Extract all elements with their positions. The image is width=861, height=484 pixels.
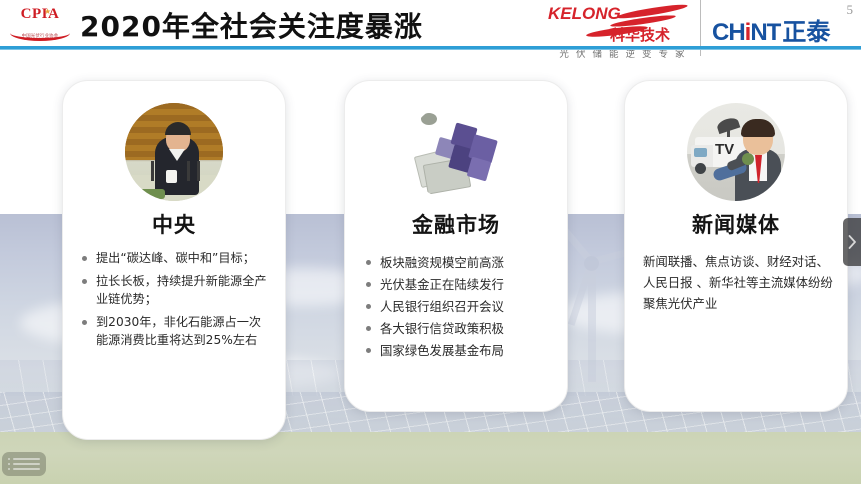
list-item: 光伏基金正在陆续发行 [363, 275, 553, 294]
card-bullet-list: 板块融资规模空前高涨 光伏基金正在陆续发行 人民银行组织召开会议 各大银行信贷政… [363, 253, 553, 363]
menu-line-row [8, 458, 40, 460]
page-number: 5 [847, 2, 854, 18]
chevron-right-icon [848, 235, 857, 249]
next-slide-button[interactable] [843, 218, 861, 266]
chint-logo-text-1: CH [712, 19, 745, 46]
card-bullet-list: 提出“碳达峰、碳中和”目标； 拉长长板，持续提升新能源全产业链优势； 到2030… [79, 249, 271, 354]
leader-meeting-photo [125, 103, 223, 201]
list-item: 拉长长板，持续提升新能源全产业链优势； [79, 272, 271, 309]
card-title: 新闻媒体 [625, 209, 847, 239]
kelong-logo-text: KELONG [548, 4, 621, 24]
slide-menu-button[interactable] [2, 452, 46, 476]
list-item: 国家绿色发展基金布局 [363, 341, 553, 360]
cpia-logo-text: CPIA [8, 6, 72, 23]
card-title: 金融市场 [345, 209, 567, 239]
card-financial-market[interactable]: 金融市场 板块融资规模空前高涨 光伏基金正在陆续发行 人民银行组织召开会议 各大… [344, 80, 568, 412]
cpia-logo-icon: CPIA ★ 中国光伏行业协会 [8, 4, 72, 42]
chint-logo-text-2: NT [750, 19, 780, 46]
card-news-media[interactable]: TV 新闻媒体 新闻联播、焦点访谈、财经对话、人民日报 、新华社等主流媒体纷纷聚… [624, 80, 848, 412]
chint-logo-text-cn: 正泰 [782, 18, 830, 46]
list-item: 人民银行组织召开会议 [363, 297, 553, 316]
kelong-logo-text-cn: 科华技术 [610, 24, 670, 45]
list-item: 到2030年，非化石能源占一次能源消费比重将达到25%左右 [79, 313, 271, 350]
card-title: 中央 [63, 209, 285, 239]
card-paragraph: 新闻联播、焦点访谈、财经对话、人民日报 、新华社等主流媒体纷纷聚焦光伏产业 [643, 251, 835, 314]
menu-line-row [8, 463, 40, 465]
puzzle-money-photo [407, 103, 505, 201]
list-item: 板块融资规模空前高涨 [363, 253, 553, 272]
slide: CPIA ★ 中国光伏行业协会 2020年全社会关注度暴涨 KELONG 科华技… [0, 0, 861, 484]
page-title: 2020年全社会关注度暴涨 [80, 5, 423, 45]
menu-line-row [8, 468, 40, 470]
reporter-tv-photo: TV [687, 103, 785, 201]
slide-header: CPIA ★ 中国光伏行业协会 2020年全社会关注度暴涨 KELONG 科华技… [0, 0, 861, 56]
star-icon: ★ [44, 7, 51, 16]
chint-logo-icon: CHiNT正泰 [712, 12, 830, 42]
card-central-government[interactable]: 中央 提出“碳达峰、碳中和”目标； 拉长长板，持续提升新能源全产业链优势； 到2… [62, 80, 286, 440]
list-item: 提出“碳达峰、碳中和”目标； [79, 249, 271, 268]
card-row: 中央 提出“碳达峰、碳中和”目标； 拉长长板，持续提升新能源全产业链优势； 到2… [0, 0, 861, 484]
list-item: 各大银行信贷政策积极 [363, 319, 553, 338]
title-underline-thin [0, 49, 861, 50]
cpia-logo-subtitle: 中国光伏行业协会 [8, 33, 72, 39]
